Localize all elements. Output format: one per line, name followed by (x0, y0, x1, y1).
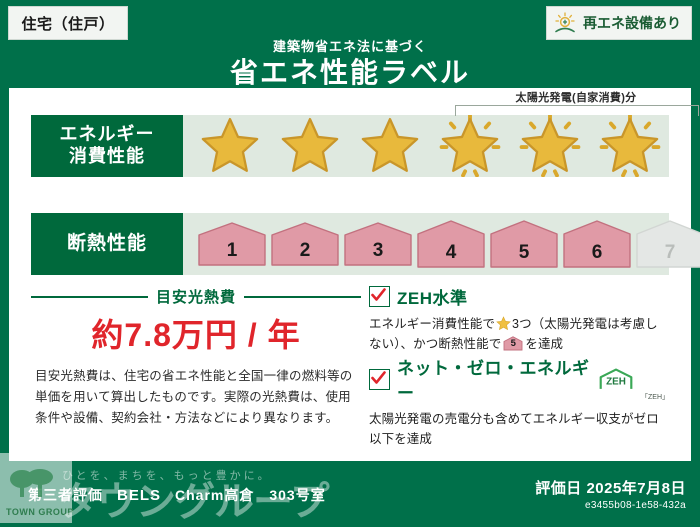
grade-number: 7 (635, 242, 700, 264)
zeh-description: エネルギー消費性能で3つ（太陽光発電は考慮しない）、かつ断熱性能で5を達成 (369, 314, 669, 355)
energy-consumption-label: エネルギー 消費性能 (31, 115, 183, 177)
net-zero-checkbox[interactable] (369, 369, 390, 390)
bels-label: BELS (117, 487, 161, 504)
zeh-desc-part1: エネルギー消費性能で (369, 317, 495, 331)
zeh-logo-icon: ZEH (598, 367, 634, 391)
criterion-zeh-level: ZEH水準 エネルギー消費性能で3つ（太陽光発電は考慮しない）、かつ断熱性能で5… (369, 284, 669, 355)
net-zero-title: ネット・ゼロ・エネルギー (397, 354, 591, 404)
renewable-badge-label: 再エネ設備あり (583, 13, 681, 33)
footer-left-group: 第三者評価 BELS Charm高倉 303号室 (28, 467, 326, 523)
inline-grade-badge: 5 (503, 336, 523, 351)
star-icon (599, 115, 661, 177)
label-footer: 第三者評価 BELS Charm高倉 303号室 評価日 2025年7月8日 e… (0, 467, 700, 523)
star-icon (439, 115, 501, 177)
star-solar (511, 115, 589, 177)
utility-cost-value: 約7.8万円 / 年 (31, 310, 361, 356)
third-party-label: 第三者評価 (28, 485, 103, 505)
renewable-energy-badge: 再エネ設備あり (546, 6, 692, 40)
evaluation-date-value: 2025年7月8日 (586, 480, 686, 497)
sun-icon (553, 12, 577, 34)
insulation-grade-7: 7 (635, 219, 700, 269)
star-icon (279, 115, 341, 177)
grade-number: 6 (562, 242, 632, 264)
zeh-title: ZEH水準 (397, 284, 468, 309)
grade-number: 2 (270, 240, 340, 262)
utility-cost-heading: 目安光熱費 (31, 286, 361, 307)
energy-star-rating (191, 115, 669, 177)
energy-label-line1: エネルギー (60, 124, 155, 146)
evaluation-date-label: 評価日 (535, 480, 582, 497)
star-icon (199, 115, 261, 177)
star-solar (431, 115, 509, 177)
svg-text:ZEH: ZEH (606, 376, 626, 387)
criterion-net-zero-energy: ネット・ゼロ・エネルギー ZEH 「ZEH」 太陽光発電の売電分も含めてエネルギ… (369, 354, 669, 450)
zeh-desc-part3: を達成 (525, 337, 563, 351)
evaluation-id: e3455b08-1e58-432a (535, 500, 686, 511)
grade-number: 3 (343, 240, 413, 262)
grade-number: 4 (416, 242, 486, 264)
building-type-tag: 住宅（住戸） (8, 6, 128, 40)
insulation-grade-1: 1 (197, 221, 267, 267)
insulation-label-text: 断熱性能 (67, 232, 147, 255)
insulation-performance-row: 断熱性能 1234567 (31, 213, 669, 275)
zeh-checkbox[interactable] (369, 286, 390, 307)
footer-right-group: 評価日 2025年7月8日 e3455b08-1e58-432a (535, 477, 686, 511)
star-icon (359, 115, 421, 177)
utility-cost-note: 目安光熱費は、住宅の省エネ性能と全国一律の燃料等の単価を用いて算出したものです。… (35, 366, 361, 429)
check-icon (371, 371, 386, 386)
utility-cost-heading-text: 目安光熱費 (156, 286, 236, 307)
inline-grade-number: 5 (503, 336, 523, 351)
energy-label-line2: 消費性能 (69, 146, 145, 168)
insulation-grade-4: 4 (416, 219, 486, 269)
rule-right (244, 296, 361, 298)
star-base (351, 115, 429, 177)
insulation-grade-scale: 1234567 (197, 213, 700, 275)
label-title-sub: 建築物省エネ法に基づく (0, 40, 700, 53)
grade-number: 5 (489, 242, 559, 264)
label-title-main: 省エネ性能ラベル (0, 55, 700, 90)
star-icon (496, 316, 511, 331)
net-zero-description: 太陽光発電の売電分も含めてエネルギー収支がゼロ以下を達成 (369, 409, 669, 450)
label-card: エネルギー 消費性能 太陽光発電(自家消費)分 断熱性能 1234567 目安光… (9, 88, 691, 461)
energy-performance-label: 住宅（住戸） 再エネ設備あり 建築物省エネ法に基づく 省エネ性能ラベル (0, 0, 700, 523)
star-base (191, 115, 269, 177)
insulation-label: 断熱性能 (31, 213, 183, 275)
insulation-grade-5: 5 (489, 219, 559, 269)
evaluation-date: 評価日 2025年7月8日 (535, 477, 686, 498)
label-header: 住宅（住戸） 再エネ設備あり 建築物省エネ法に基づく 省エネ性能ラベル (0, 0, 700, 96)
insulation-grade-6: 6 (562, 219, 632, 269)
zeh-logo-caption: 「ZEH」 (641, 392, 669, 402)
check-icon (371, 288, 386, 303)
insulation-grade-3: 3 (343, 221, 413, 267)
star-base (271, 115, 349, 177)
solar-note-label: 太陽光発電(自家消費)分 (453, 89, 699, 105)
insulation-grade-2: 2 (270, 221, 340, 267)
grade-number: 1 (197, 240, 267, 262)
star-solar (591, 115, 669, 177)
star-icon (519, 115, 581, 177)
label-title-group: 建築物省エネ法に基づく 省エネ性能ラベル (0, 40, 700, 90)
property-name: Charm高倉 303号室 (175, 485, 326, 505)
energy-consumption-row: エネルギー 消費性能 太陽光発電(自家消費)分 (31, 115, 669, 177)
rule-left (31, 296, 148, 298)
